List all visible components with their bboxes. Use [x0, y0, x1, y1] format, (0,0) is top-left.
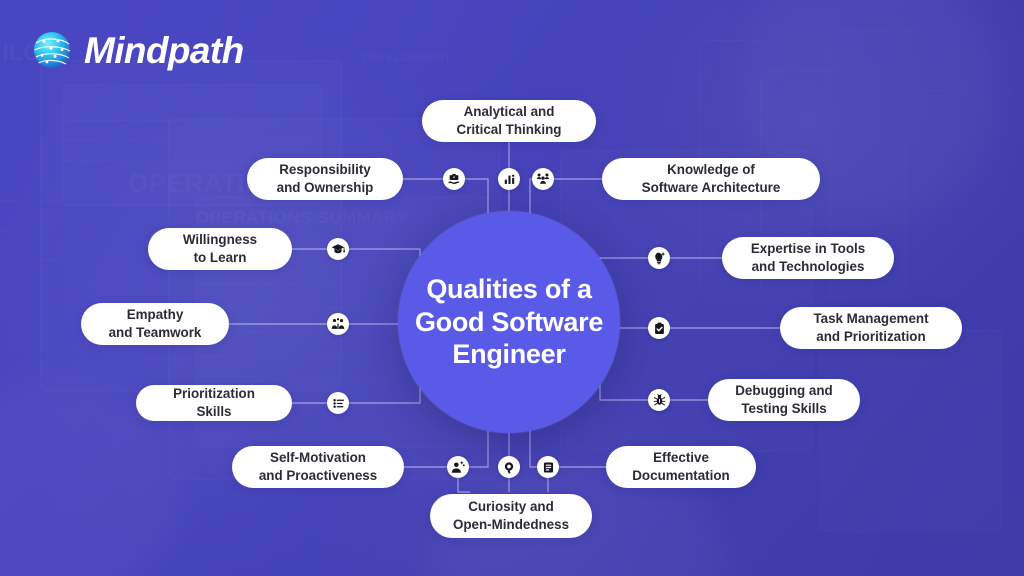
node-icon-prioritization[interactable] — [327, 392, 349, 414]
node-label-text: Task Management and Prioritization — [813, 310, 928, 346]
node-label-empathy[interactable]: Empathy and Teamwork — [81, 303, 229, 345]
node-label-text: Responsibility and Ownership — [277, 161, 374, 197]
brand-name: Mindpath — [84, 32, 244, 69]
handshake-team-icon — [331, 317, 345, 331]
brand-logo[interactable]: Mindpath — [31, 29, 244, 71]
document-lines-icon — [542, 461, 555, 474]
node-label-debugging[interactable]: Debugging and Testing Skills — [708, 379, 860, 421]
node-label-willingness[interactable]: Willingness to Learn — [148, 228, 292, 270]
infographic-canvas: OPERATING OPERATIONS SUMMARY DEVELOPMENT… — [0, 0, 1024, 576]
clipboard-check-icon — [653, 322, 666, 335]
node-label-self-motivation[interactable]: Self-Motivation and Proactiveness — [232, 446, 404, 488]
center-hub: Qualities of a Good Software Engineer — [398, 211, 620, 433]
team-network-icon — [536, 172, 550, 186]
node-label-text: Expertise in Tools and Technologies — [751, 240, 865, 276]
node-icon-architecture[interactable] — [532, 168, 554, 190]
node-label-text: Curiosity and Open-Mindedness — [453, 498, 569, 534]
node-label-curiosity[interactable]: Curiosity and Open-Mindedness — [430, 494, 592, 538]
node-label-prioritization[interactable]: Prioritization Skills — [136, 385, 292, 421]
node-label-expertise[interactable]: Expertise in Tools and Technologies — [722, 237, 894, 279]
briefcase-hand-icon — [447, 172, 461, 186]
node-icon-willingness[interactable] — [327, 238, 349, 260]
node-label-text: Knowledge of Software Architecture — [642, 161, 781, 197]
node-label-documentation[interactable]: Effective Documentation — [606, 446, 756, 488]
hub-title: Qualities of a Good Software Engineer — [401, 273, 617, 372]
node-label-text: Willingness to Learn — [183, 231, 257, 267]
priority-list-icon — [332, 397, 345, 410]
node-icon-curiosity[interactable] — [498, 456, 520, 478]
node-icon-empathy[interactable] — [327, 313, 349, 335]
node-label-task-management[interactable]: Task Management and Prioritization — [780, 307, 962, 349]
node-label-text: Empathy and Teamwork — [109, 306, 202, 342]
node-icon-debugging[interactable] — [648, 389, 670, 411]
magnifier-idea-icon — [503, 461, 516, 474]
node-label-responsibility[interactable]: Responsibility and Ownership — [247, 158, 403, 200]
node-label-architecture[interactable]: Knowledge of Software Architecture — [602, 158, 820, 200]
node-label-text: Analytical and Critical Thinking — [457, 103, 562, 139]
node-icon-task-management[interactable] — [648, 317, 670, 339]
node-label-text: Self-Motivation and Proactiveness — [259, 449, 377, 485]
node-icon-responsibility[interactable] — [443, 168, 465, 190]
lightbulb-spark-icon — [652, 251, 666, 265]
node-icon-expertise[interactable] — [648, 247, 670, 269]
bug-icon — [653, 394, 666, 407]
graduation-cap-icon — [331, 242, 345, 256]
node-label-text: Debugging and Testing Skills — [735, 382, 832, 418]
node-icon-documentation[interactable] — [537, 456, 559, 478]
node-label-text: Effective Documentation — [632, 449, 729, 485]
node-icon-analytical[interactable] — [498, 168, 520, 190]
node-label-analytical[interactable]: Analytical and Critical Thinking — [422, 100, 596, 142]
node-label-text: Prioritization Skills — [155, 385, 273, 421]
globe-network-icon — [31, 29, 73, 71]
node-icon-self-motivation[interactable] — [447, 456, 469, 478]
bar-chart-icon — [503, 173, 516, 186]
person-spark-icon — [451, 460, 465, 474]
